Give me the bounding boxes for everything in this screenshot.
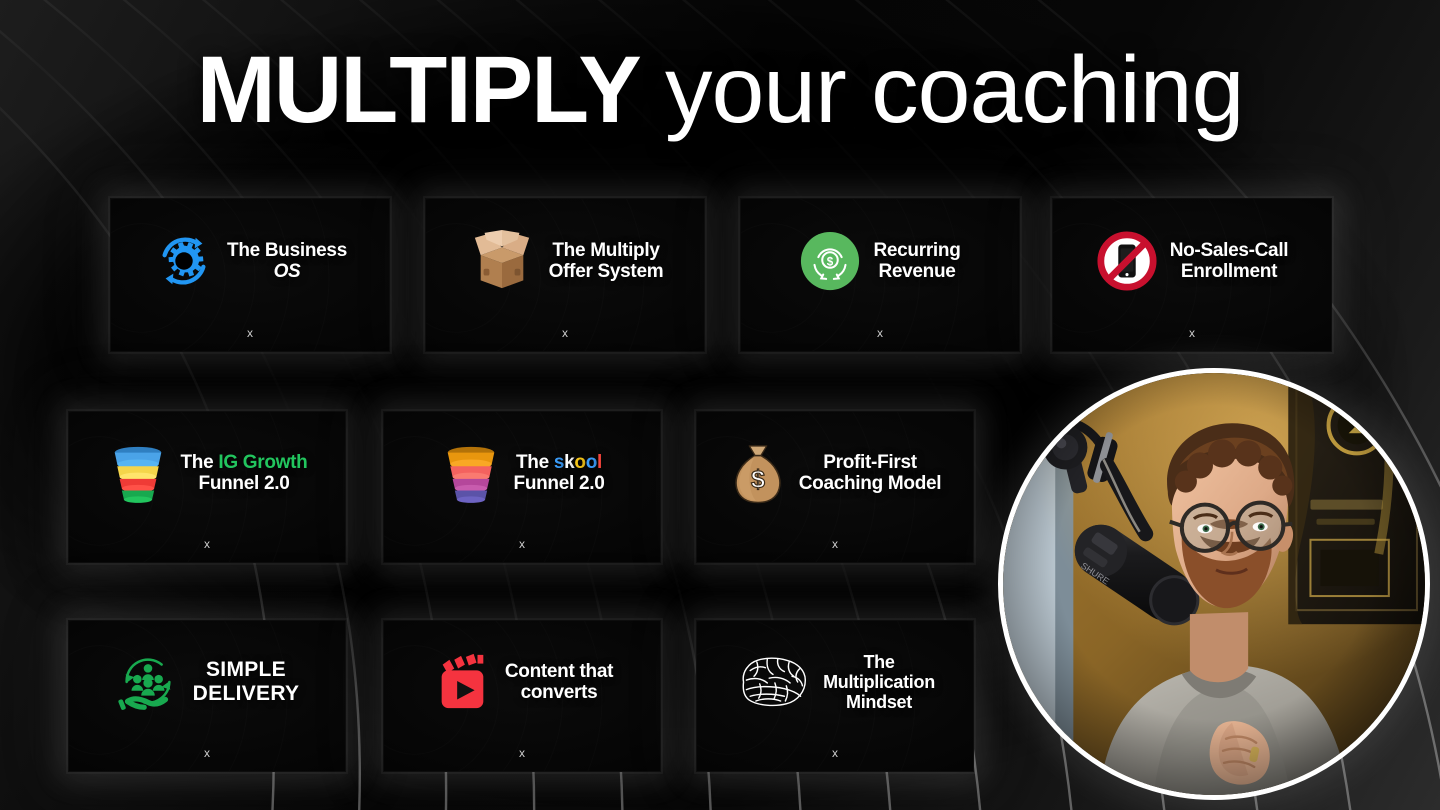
no-phone-icon [1096,230,1158,292]
card-x-marker: x [384,537,660,551]
money-bag-icon: $ [729,442,787,504]
gear-refresh-icon [153,230,215,292]
card-line-2: converts [505,682,613,703]
card-line-1-accent: IG Growth [218,452,307,473]
funnel-skool-icon [440,442,502,504]
card-label: Recurring Revenue [873,240,960,283]
card-line-1: The [823,652,935,672]
card-line-1-prefix: The [516,452,554,473]
hand-community-icon [115,649,181,715]
card-profit-first-coaching-model[interactable]: $ Profit-First Coaching Model x [696,411,974,563]
title-strong: MULTIPLY [197,37,640,143]
card-line-1: Content that [505,661,613,682]
card-line-1: Profit-First [799,452,942,473]
title-light: your coaching [665,37,1243,143]
card-the-multiplication-mindset[interactable]: The Multiplication Mindset x [696,620,974,772]
card-line-2: OS [227,261,347,282]
card-line-1: Recurring [873,240,960,261]
card-line-1: No-Sales-Call [1170,240,1289,261]
card-label: SIMPLE DELIVERY [193,658,300,705]
card-label: Content that converts [505,661,613,704]
brain-outline-icon [735,651,811,713]
clapperboard-play-icon [431,651,493,713]
card-the-ig-growth-funnel[interactable]: The IG Growth Funnel 2.0 x [68,411,346,563]
card-label: The Business OS [227,240,347,283]
card-line-2: Funnel 2.0 [514,473,605,494]
card-line-2: Enrollment [1170,261,1289,282]
card-the-skool-funnel[interactable]: The skool Funnel 2.0 x [383,411,661,563]
card-x-marker: x [69,746,345,760]
card-x-marker: x [384,746,660,760]
card-line-1: The Business [227,240,347,261]
card-line-1: The IG Growth [181,452,308,473]
card-x-marker: x [1053,326,1331,340]
recurring-money-icon: $ [799,230,861,292]
card-x-marker: x [741,326,1019,340]
svg-text:$: $ [827,255,834,268]
card-recurring-revenue[interactable]: $ Recurring Revenue x [740,198,1020,352]
card-no-sales-call-enrollment[interactable]: No-Sales-Call Enrollment x [1052,198,1332,352]
card-the-multiply-offer-system[interactable]: The Multiply Offer System x [425,198,705,352]
card-label: Profit-First Coaching Model [799,452,942,495]
card-line-2: Coaching Model [799,473,942,494]
podcast-host-portrait: SHURE [998,368,1430,800]
skool-wordmark: skool [554,452,602,473]
card-line-2: Multiplication [823,672,935,692]
card-line-1: SIMPLE [193,658,300,682]
card-line-1: The skool [514,452,605,473]
card-x-marker: x [111,326,389,340]
card-label: The skool Funnel 2.0 [514,452,605,495]
card-line-2: DELIVERY [193,682,300,706]
card-x-marker: x [697,746,973,760]
card-content-that-converts[interactable]: Content that converts x [383,620,661,772]
card-x-marker: x [426,326,704,340]
card-line-2: Offer System [549,261,664,282]
card-the-business-os[interactable]: The Business OS x [110,198,390,352]
card-line-3: Mindset [823,692,935,712]
svg-text:$: $ [751,466,765,494]
card-x-marker: x [697,537,973,551]
page-title: MULTIPLY your coaching [0,41,1440,140]
card-line-1: The Multiply [549,240,664,261]
card-label: No-Sales-Call Enrollment [1170,240,1289,283]
card-x-marker: x [69,537,345,551]
card-label: The Multiplication Mindset [823,652,935,712]
card-label: The Multiply Offer System [549,240,664,283]
card-line-2: Revenue [873,261,960,282]
open-box-icon [467,230,537,292]
card-line-1-prefix: The [181,452,219,473]
funnel-ig-icon [107,442,169,504]
card-line-2: Funnel 2.0 [181,473,308,494]
card-label: The IG Growth Funnel 2.0 [181,452,308,495]
card-simple-delivery[interactable]: SIMPLE DELIVERY x [68,620,346,772]
